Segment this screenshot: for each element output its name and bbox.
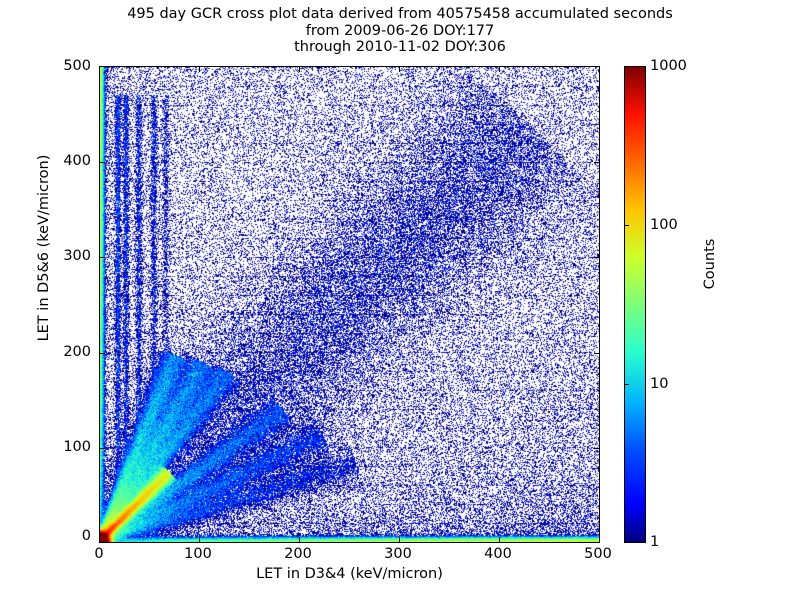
x-tick-top-100 <box>199 67 200 72</box>
x-tick-100 <box>199 537 200 542</box>
colorbar-tick-1000 <box>624 66 629 67</box>
colorbar-label-1: 1 <box>650 534 659 550</box>
plot-area <box>99 66 600 543</box>
plot-title: 495 day GCR cross plot data derived from… <box>0 6 800 56</box>
y-tick-100 <box>100 448 105 449</box>
y-tick-right-100 <box>594 448 599 449</box>
colorbar-label-10: 10 <box>650 376 668 392</box>
plot-title-line-3: through 2010-11-02 DOY:306 <box>0 39 800 56</box>
x-tick-label-100: 100 <box>168 546 228 562</box>
y-axis-title: LET in D5&6 (keV/micron) <box>36 98 52 398</box>
y-tick-300 <box>100 257 105 258</box>
x-tick-top-400 <box>499 67 500 72</box>
scatter-density-canvas <box>100 67 599 542</box>
plot-title-line-2: from 2009-06-26 DOY:177 <box>0 23 800 40</box>
x-tick-top-200 <box>299 67 300 72</box>
x-tick-label-500: 500 <box>568 546 628 562</box>
x-tick-400 <box>499 537 500 542</box>
x-tick-label-0: 0 <box>69 546 129 562</box>
colorbar <box>624 66 646 543</box>
colorbar-label-100: 100 <box>650 217 678 233</box>
x-tick-label-200: 200 <box>268 546 328 562</box>
y-tick-right-200 <box>594 353 599 354</box>
y-tick-label-100: 100 <box>31 439 91 455</box>
figure: 495 day GCR cross plot data derived from… <box>0 0 800 600</box>
colorbar-tick-10 <box>624 384 629 385</box>
plot-title-line-1: 495 day GCR cross plot data derived from… <box>0 6 800 23</box>
y-tick-right-400 <box>594 162 599 163</box>
x-axis-title: LET in D3&4 (keV/micron) <box>99 566 600 582</box>
y-tick-label-500: 500 <box>31 58 91 74</box>
y-tick-label-0: 0 <box>31 528 91 544</box>
y-tick-400 <box>100 162 105 163</box>
y-tick-200 <box>100 353 105 354</box>
x-tick-200 <box>299 537 300 542</box>
y-tick-right-300 <box>594 257 599 258</box>
colorbar-title: Counts <box>702 174 718 354</box>
x-tick-300 <box>399 537 400 542</box>
x-tick-label-400: 400 <box>468 546 528 562</box>
colorbar-label-1000: 1000 <box>650 58 687 74</box>
x-tick-label-300: 300 <box>368 546 428 562</box>
x-tick-top-300 <box>399 67 400 72</box>
colorbar-tick-100 <box>624 225 629 226</box>
colorbar-tick-1 <box>624 542 629 543</box>
